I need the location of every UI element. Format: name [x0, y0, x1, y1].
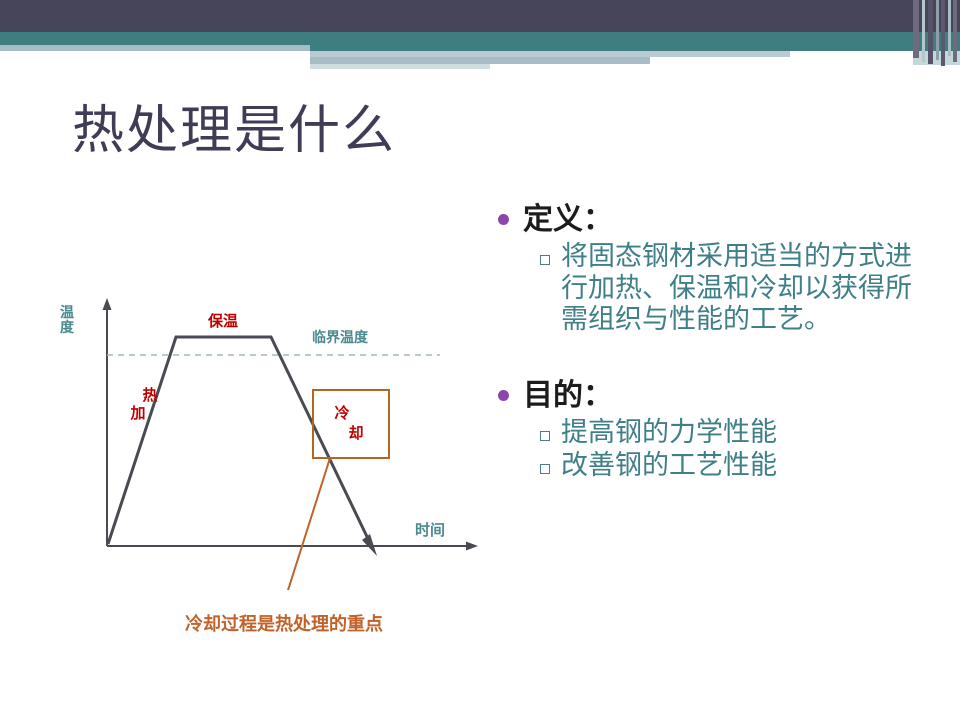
bullet-dot-icon: [498, 390, 509, 401]
sub-bullet-square-icon: [540, 255, 550, 265]
bullet-level2-process: 改善钢的工艺性能: [540, 450, 938, 482]
bullet-level1-label: 定义：: [523, 200, 613, 239]
sub-bullet-square-icon: [540, 464, 550, 474]
bullet-level1-label: 目的：: [523, 376, 613, 415]
bullet-group-purpose: 目的： 提高钢的力学性能 改善钢的工艺性能: [498, 376, 938, 482]
chart-axes: [103, 298, 479, 551]
heating-stage-label-char-bottom: 加: [129, 405, 145, 422]
bullet-list: 定义： 将固态钢材采用适当的方式进行加热、保温和冷却以获得所需组织与性能的工艺。…: [498, 200, 938, 484]
header-dark-band: [0, 0, 960, 32]
sub-bullet-square-icon: [540, 431, 550, 441]
header-pale-band-3: [310, 64, 490, 69]
header-pale-band-2: [310, 57, 650, 64]
hold-stage-label: 保温: [207, 312, 238, 330]
sub-bullet-label: 改善钢的工艺性能: [561, 450, 777, 482]
critical-temperature-label: 临界温度: [312, 329, 369, 345]
header-vertical-stripe-5: [941, 0, 945, 66]
page-title: 热处理是什么: [72, 88, 396, 163]
header-vertical-stripe-3: [928, 0, 933, 64]
annotation-leader-line: [283, 458, 330, 590]
header-teal-band: [0, 32, 960, 45]
header-vertical-stripe-7: [953, 0, 957, 62]
slide: 热处理是什么 定义： 将固态钢材采用适当的方式进行加热、保温和冷却以获得所需组织…: [0, 0, 960, 720]
cooling-stage-label-char-top: 冷: [334, 404, 349, 422]
bullet-group-definition: 定义： 将固态钢材采用适当的方式进行加热、保温和冷却以获得所需组织与性能的工艺。: [498, 200, 938, 336]
header-light-band: [0, 45, 310, 51]
header-vertical-stripe-2: [922, 0, 925, 62]
temperature-curve: [108, 337, 377, 556]
header-vertical-stripe-4: [936, 0, 939, 60]
bullet-level2-mechanical: 提高钢的力学性能: [540, 417, 938, 449]
heat-treatment-curve-chart: 临界温度 保温 热 加 冷 却 时间: [40, 290, 490, 590]
chart-caption: 冷却过程是热处理的重点: [185, 610, 465, 636]
bullet-level2-definition-text: 将固态钢材采用适当的方式进行加热、保温和冷却以获得所需组织与性能的工艺。: [540, 241, 938, 336]
heating-stage-label-char-top: 热: [142, 386, 157, 404]
cooling-stage-label-char-bottom: 却: [348, 424, 363, 442]
bullet-level1-definition: 定义：: [498, 200, 938, 239]
bullet-level1-purpose: 目的：: [498, 376, 938, 415]
sub-bullet-label: 提高钢的力学性能: [561, 417, 777, 449]
header-vertical-stripe-6: [948, 0, 951, 56]
bullet-dot-icon: [498, 214, 509, 225]
header-vertical-stripe-1: [913, 0, 919, 58]
chart-x-axis-label: 时间: [415, 521, 445, 539]
sub-bullet-label: 将固态钢材采用适当的方式进行加热、保温和冷却以获得所需组织与性能的工艺。: [561, 241, 938, 336]
